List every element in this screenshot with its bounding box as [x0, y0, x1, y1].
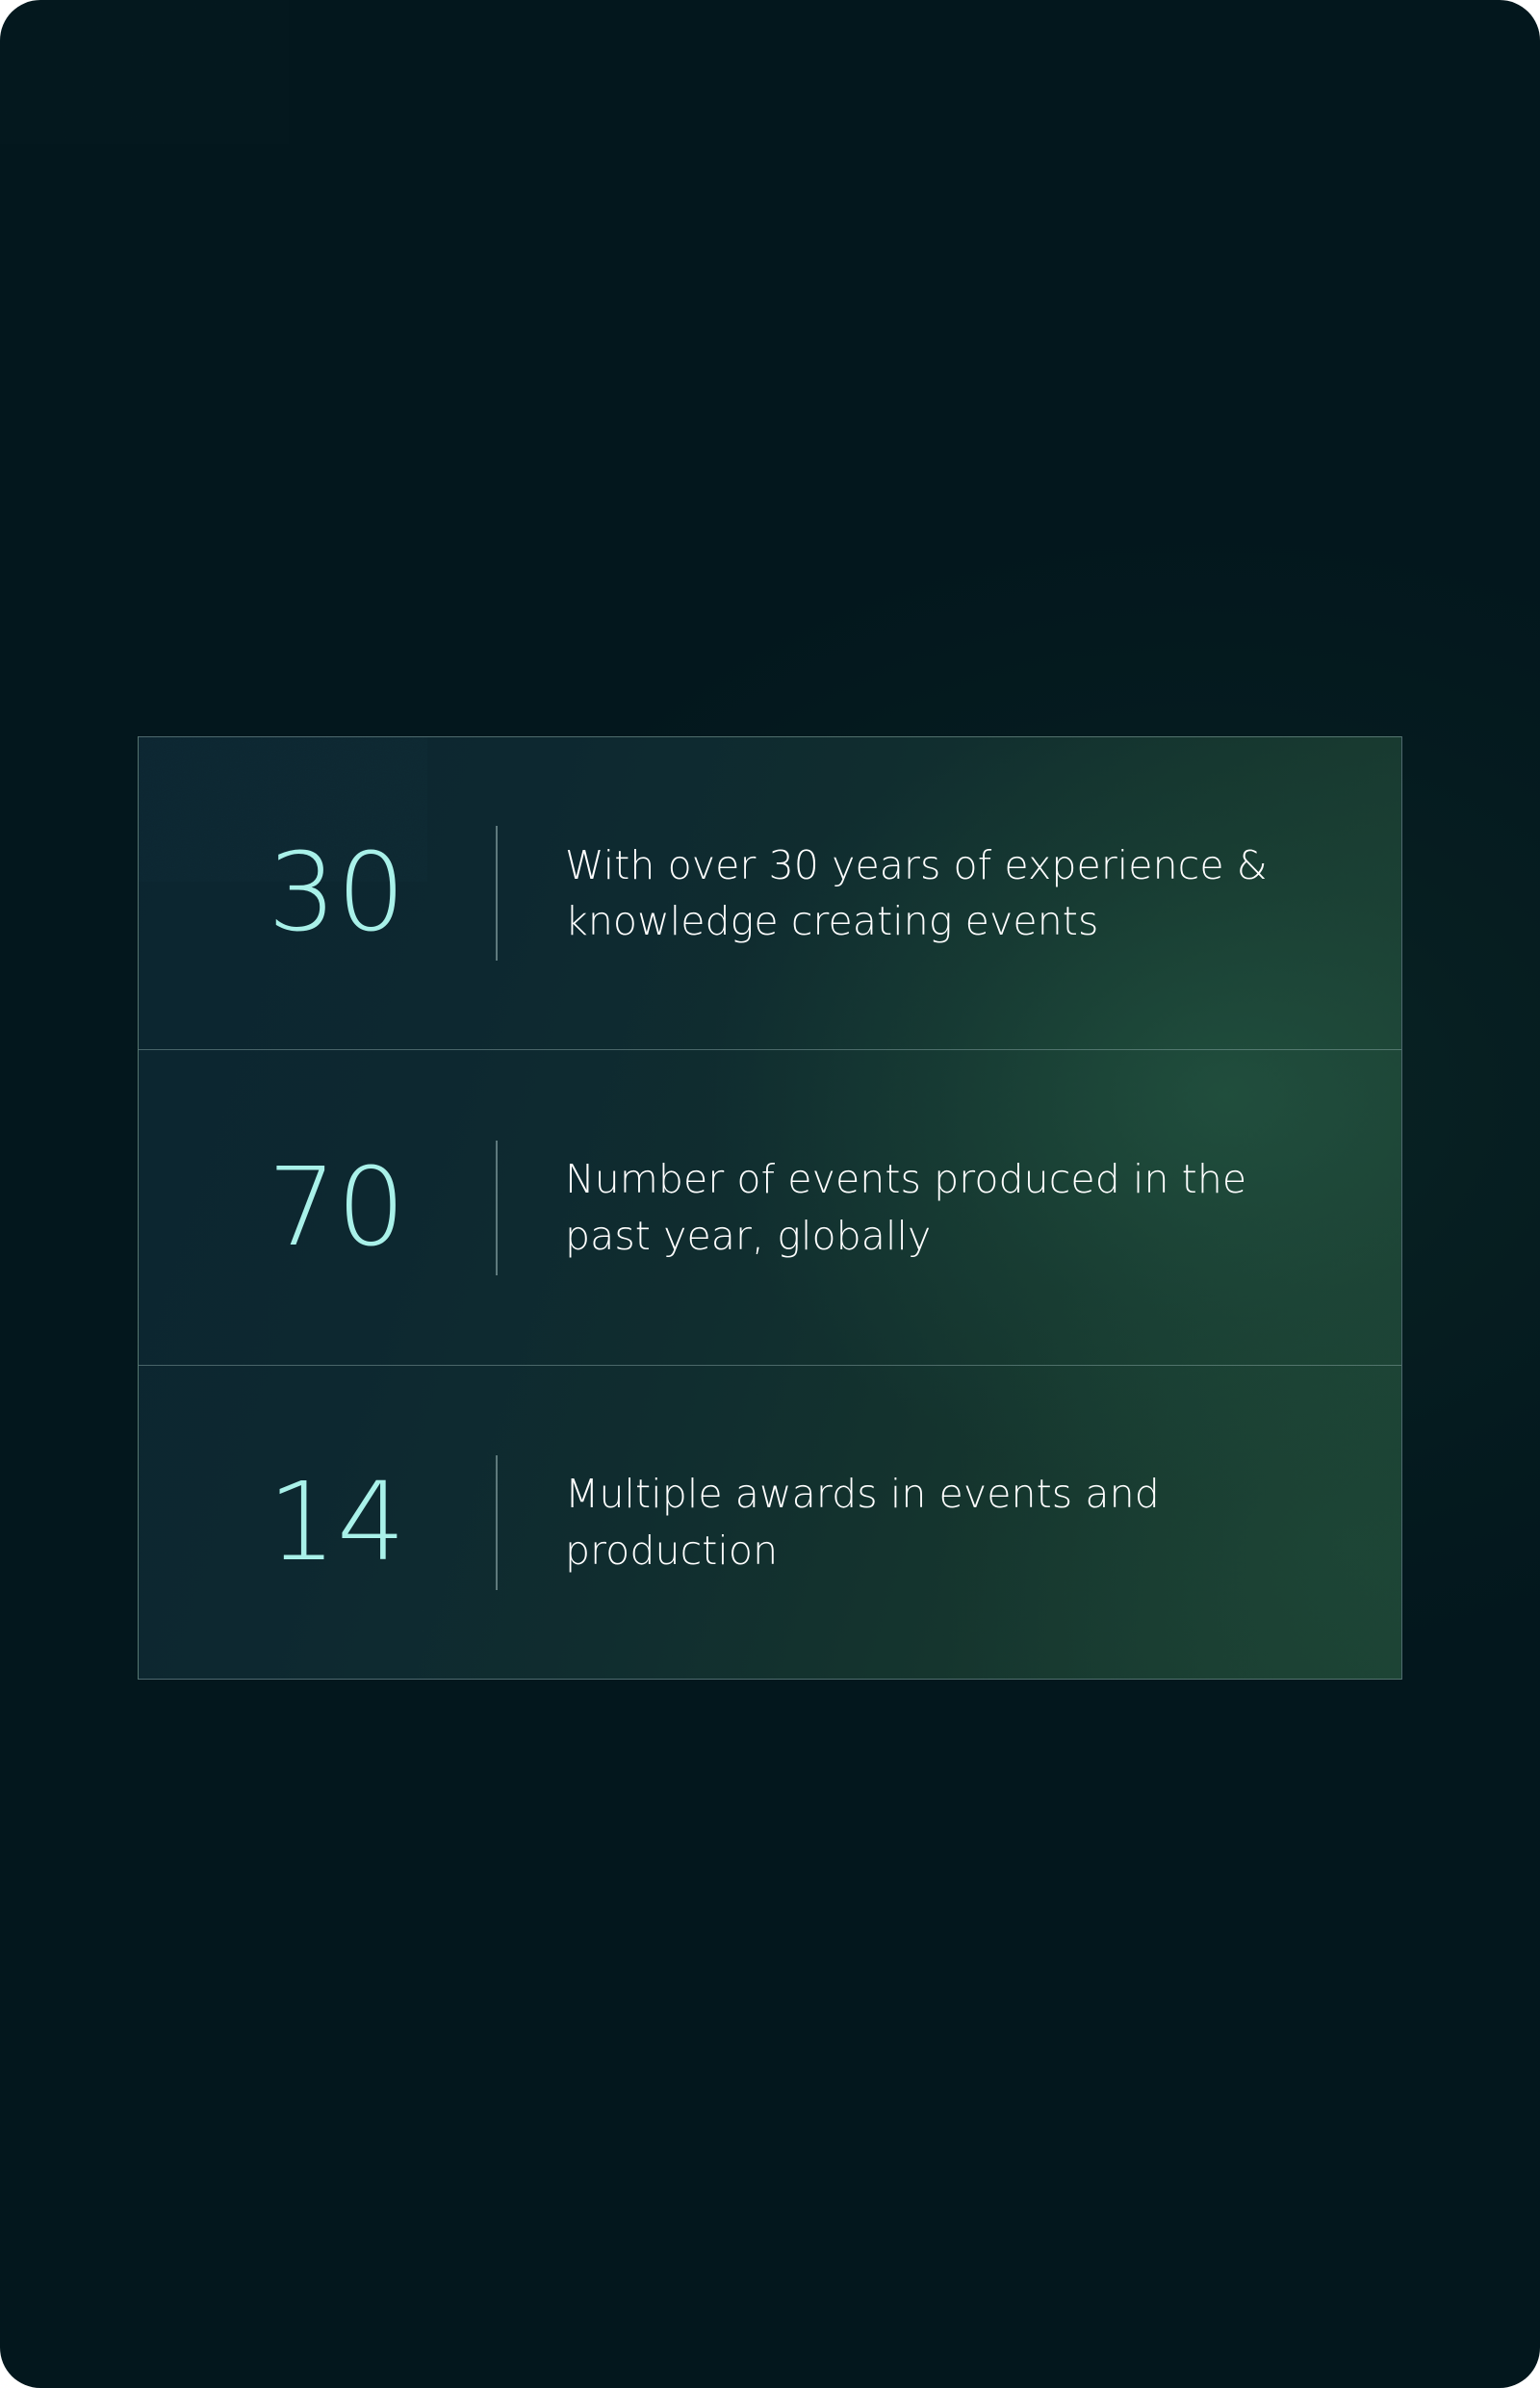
page-grain-overlay [0, 0, 289, 144]
stat-text-cell: With over 30 years of experience & knowl… [498, 798, 1401, 989]
stat-text-cell: Multiple awards in events and production [498, 1426, 1401, 1617]
stat-row: 70 Number of events produced in the past… [139, 1049, 1401, 1365]
stat-description: Multiple awards in events and production [565, 1466, 1335, 1578]
stat-description: Number of events produced in the past ye… [565, 1151, 1335, 1263]
stat-number-value: 70 [268, 1154, 406, 1262]
page-root: 30 With over 30 years of experience & kn… [0, 0, 1540, 2388]
stat-row-list: 30 With over 30 years of experience & kn… [139, 737, 1401, 1679]
stat-row: 14 Multiple awards in events and product… [139, 1365, 1401, 1679]
stat-row: 30 With over 30 years of experience & kn… [139, 737, 1401, 1049]
stat-number-value: 30 [268, 839, 406, 947]
stats-card: 30 With over 30 years of experience & kn… [138, 736, 1402, 1680]
stat-number-cell: 14 [178, 1469, 496, 1577]
stat-number-cell: 30 [178, 839, 496, 947]
stat-description: With over 30 years of experience & knowl… [565, 837, 1335, 949]
stat-number-cell: 70 [178, 1154, 496, 1262]
stat-number-value: 14 [268, 1469, 406, 1577]
stat-text-cell: Number of events produced in the past ye… [498, 1112, 1401, 1302]
